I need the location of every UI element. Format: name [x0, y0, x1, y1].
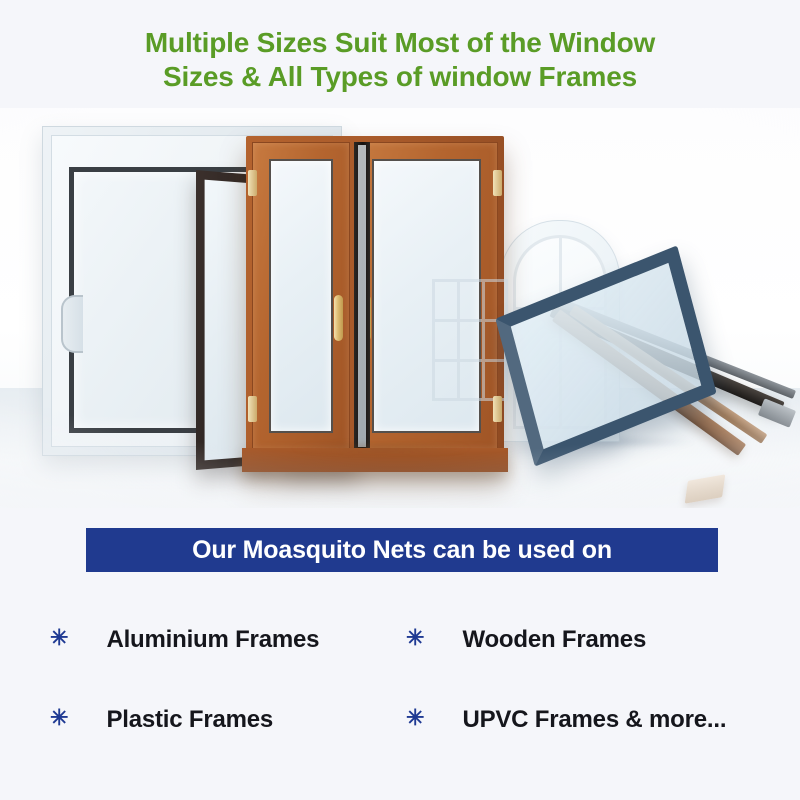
page-title-line-2: Sizes & All Types of window Frames	[50, 60, 750, 94]
asterisk-bullet-icon: ✳	[50, 707, 68, 729]
asterisk-bullet-icon: ✳	[50, 627, 68, 649]
feature-label: UPVC Frames & more...	[462, 706, 726, 734]
wooden-double-casement-window	[246, 136, 504, 472]
section-banner: Our Moasquito Nets can be used on	[86, 528, 718, 572]
wooden-window-glass-left	[269, 159, 333, 433]
page-title: Multiple Sizes Suit Most of the Window S…	[50, 26, 750, 94]
feature-row: ✳ Aluminium Frames ✳ Wooden Frames	[0, 600, 800, 680]
list-item: ✳ Wooden Frames	[0, 600, 646, 680]
asterisk-bullet-icon: ✳	[406, 707, 424, 729]
section-banner-title: Our Moasquito Nets can be used on	[192, 536, 612, 565]
wooden-window-muntin-grid	[432, 279, 508, 401]
wooden-window-mullion-glass	[358, 145, 366, 447]
list-item: ✳ UPVC Frames & more...	[0, 680, 726, 760]
asterisk-bullet-icon: ✳	[406, 627, 424, 649]
promo-page: Multiple Sizes Suit Most of the Window S…	[0, 0, 800, 800]
feature-list: ✳ Aluminium Frames ✳ Wooden Frames ✳ Pla…	[0, 600, 800, 760]
wooden-window-mullion	[354, 142, 370, 450]
wooden-window-hinge-icon	[493, 170, 502, 196]
page-title-line-1: Multiple Sizes Suit Most of the Window	[50, 26, 750, 60]
shadow-wooden-window	[250, 440, 512, 456]
feature-label: Wooden Frames	[462, 626, 646, 654]
wooden-window-handle-left-icon	[334, 295, 343, 341]
wooden-window-leaf-right	[355, 142, 498, 450]
wooden-window-hinge-icon	[493, 396, 502, 422]
wooden-window-hinge-icon	[248, 396, 257, 422]
wooden-window-leaf-left	[252, 142, 350, 450]
wooden-window-hinge-icon	[248, 170, 257, 196]
product-image	[0, 108, 800, 508]
feature-row: ✳ Plastic Frames ✳ UPVC Frames & more...	[0, 680, 800, 760]
white-window-handle-icon	[61, 295, 83, 353]
wooden-window-leaves	[252, 142, 498, 450]
wooden-window-glass-right	[372, 159, 481, 433]
